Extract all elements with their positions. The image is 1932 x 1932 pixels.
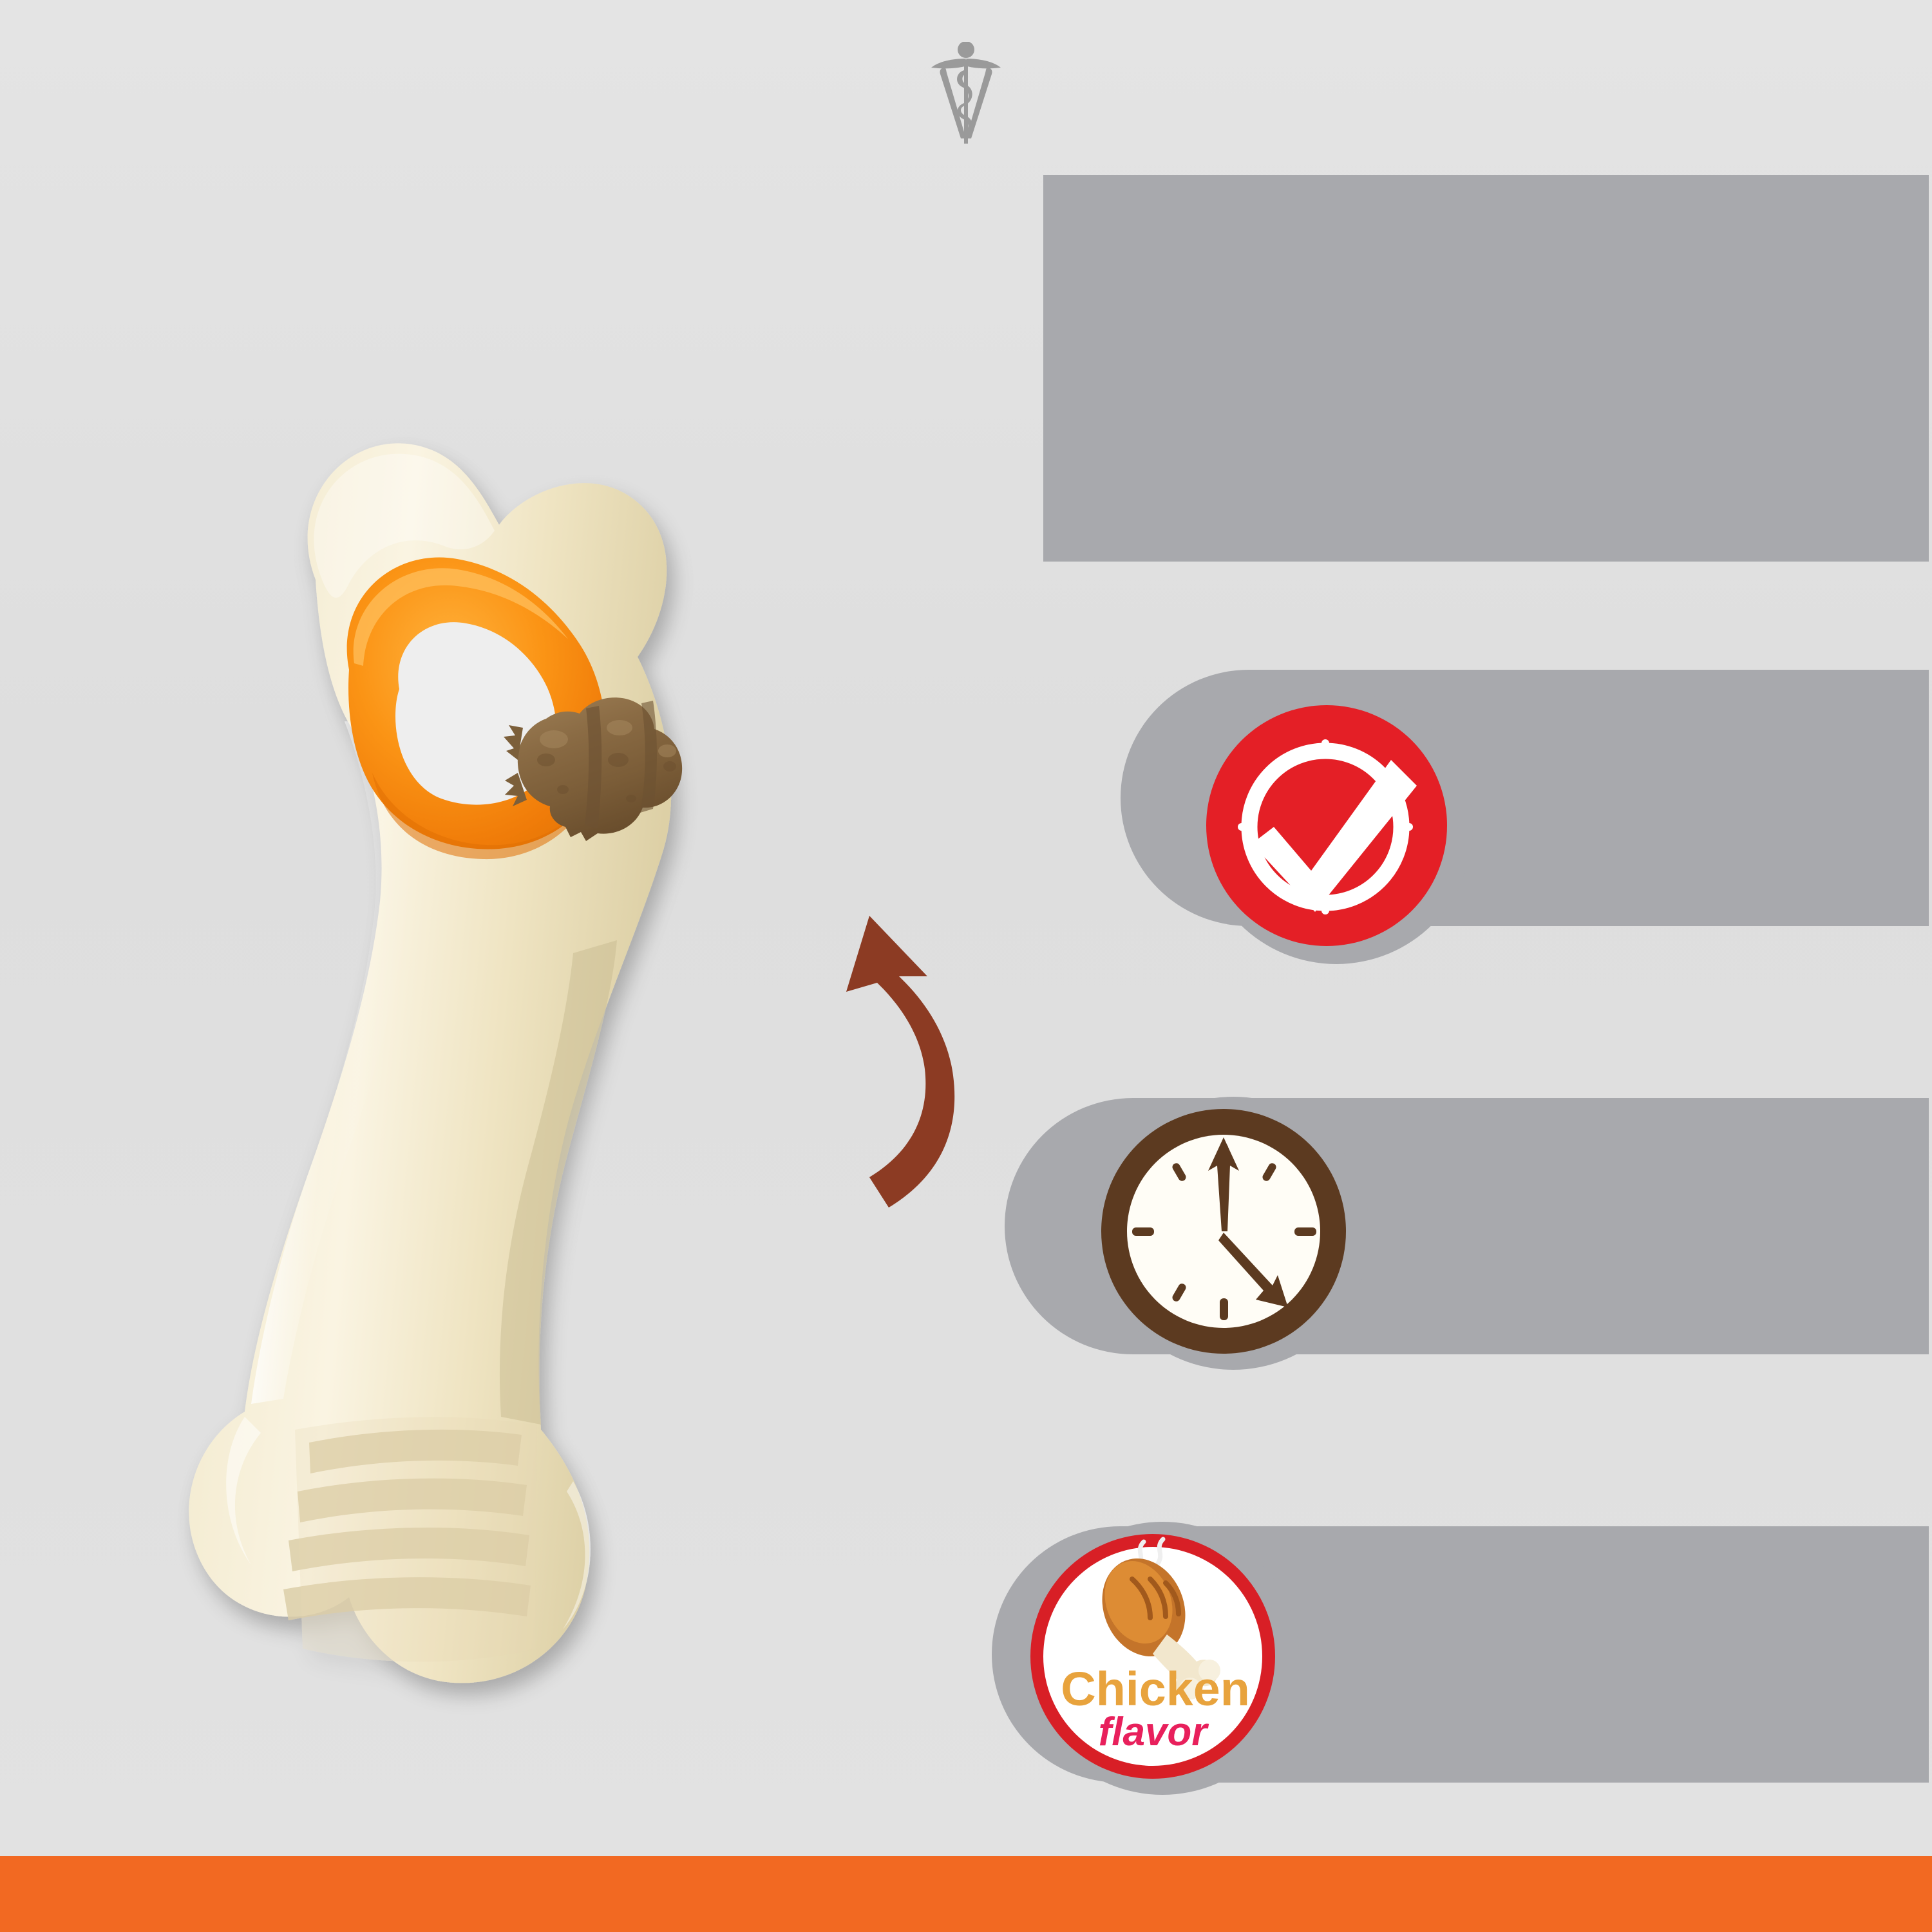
feature-row-long-lasting-nylon <box>1198 689 1513 969</box>
veterinary-caduceus-icon <box>927 42 1005 151</box>
feature-1-icon-wrap <box>1198 689 1475 969</box>
chicken-flavor-badge-icon: Chicken flavor <box>1024 1520 1301 1797</box>
bottom-accent-bar <box>0 1856 1932 1932</box>
feature-2-icon-wrap <box>1095 1095 1372 1375</box>
infographic-canvas: Chicken flavor <box>0 0 1932 1932</box>
feature-3-icon-wrap: Chicken flavor <box>1024 1520 1301 1800</box>
feature-row-extended-chew-treat-time <box>1095 1095 1410 1375</box>
flavor-badge-word-bottom: flavor <box>1099 1710 1209 1754</box>
clock-checkmark-icon <box>1198 689 1475 966</box>
banner-combo <box>1043 175 1929 562</box>
combo-badge <box>1046 270 1851 279</box>
curved-up-arrow-icon <box>792 857 1024 1217</box>
header <box>0 39 1932 155</box>
clock-icon <box>1095 1095 1372 1372</box>
feature-row-flavor-throughout: Chicken flavor <box>1024 1520 1340 1800</box>
flavor-badge-word-top: Chicken <box>1061 1662 1250 1716</box>
